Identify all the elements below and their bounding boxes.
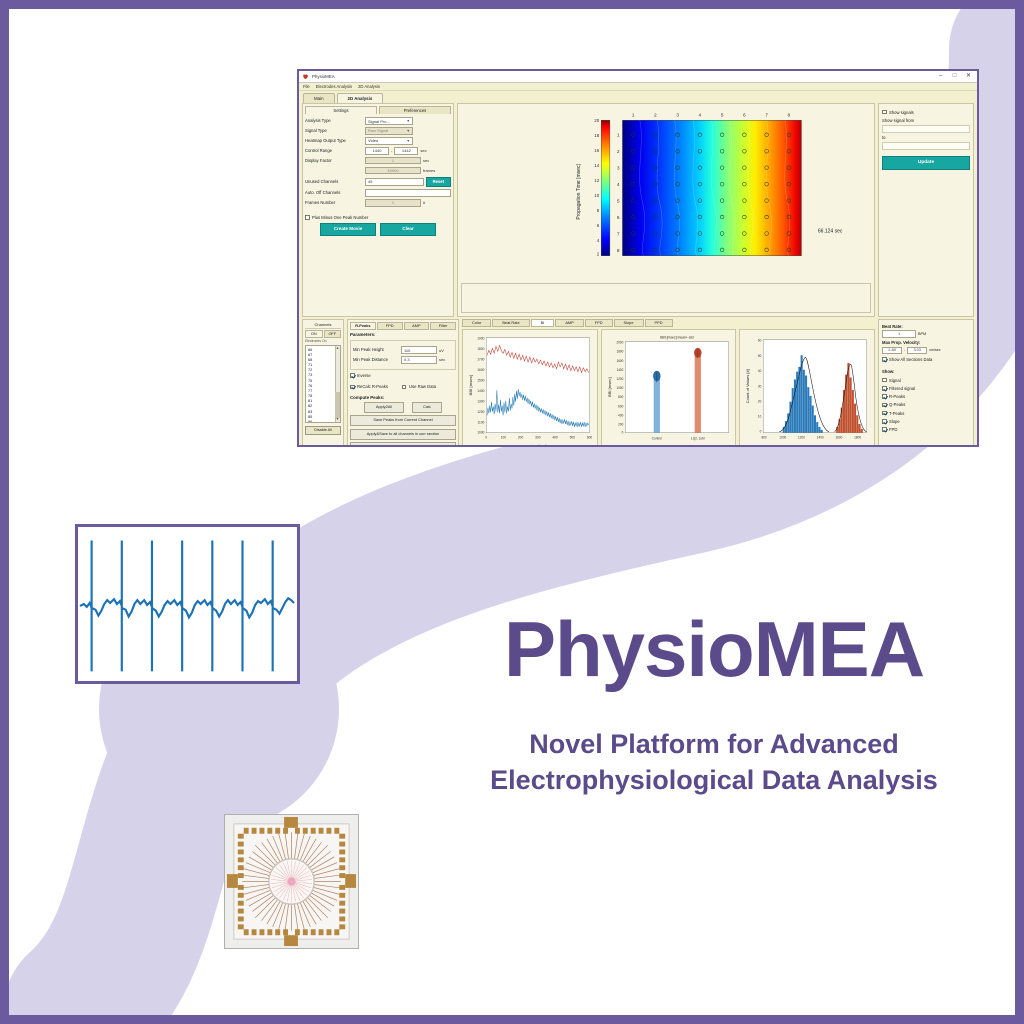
svg-text:60: 60: [758, 339, 762, 343]
disable-all-button[interactable]: Disable All: [305, 426, 341, 436]
label-min-peak-distance: Min Peak Distance: [353, 357, 399, 362]
label-auto-off-channels: Auto. Off Channels: [305, 190, 363, 195]
list-item[interactable]: 86: [308, 419, 338, 423]
label-display-factor: Display Factor: [305, 158, 363, 163]
channels-on-off-toggle: ON OFF: [305, 330, 341, 338]
field-display-frames: 10000 frames: [305, 167, 451, 175]
svg-text:7: 7: [617, 231, 620, 237]
unit-max-velocity: cm/sec: [929, 348, 940, 352]
svg-text:200: 200: [518, 436, 523, 440]
checkbox-inverse[interactable]: Inverse: [350, 373, 456, 378]
menu-item-2d-analysis[interactable]: 2D Analysis: [358, 84, 380, 89]
subtitle-line-2: Electrophysiological Data Analysis: [429, 763, 999, 799]
control-display-factor: 1 sec: [365, 157, 451, 165]
checkbox-label-show-signals: Show signals: [889, 110, 914, 115]
heatmap-column-ticks: 12 34 56 78: [632, 112, 791, 118]
settings-sub-tab-bar: Settings Preferences: [305, 106, 451, 115]
checkbox-box-q-peaks: [882, 403, 887, 408]
svg-text:1600: 1600: [616, 359, 623, 363]
svg-text:4: 4: [597, 238, 600, 243]
page-subtitle: Novel Platform for Advanced Electrophysi…: [429, 727, 999, 798]
input-signal-to[interactable]: [882, 142, 970, 150]
page-title: PhysioMEA: [429, 609, 999, 691]
svg-text:1800: 1800: [477, 347, 484, 351]
label-max-prop-velocity: Max Prop. Velocity:: [882, 340, 970, 345]
field-min-peak-distance: Min Peak Distance 0.3 sec: [353, 356, 453, 364]
input-display-factor[interactable]: 1: [365, 157, 421, 165]
control-frames-number: 1 #: [365, 199, 451, 207]
label-show-signal-from: Show signal from: [882, 118, 970, 123]
upper-workspace: Settings Preferences Analysis Type Signa…: [299, 103, 977, 317]
svg-text:500: 500: [570, 436, 575, 440]
compute-peaks-header: Compute Peaks:: [350, 395, 456, 401]
checkbox-label-signal: Signal: [889, 378, 901, 383]
control-analysis-type: Signal Pro... ▼: [365, 117, 451, 125]
svg-text:3: 3: [617, 165, 620, 171]
propagation-time-heatmap: Propagation Time [msec] 2018 1614 1210 8…: [458, 104, 874, 272]
peaks-tab-bar: R-Peaks FPD AMP Filter: [350, 322, 456, 331]
physiomea-application-window: PhysioMEA – □ ✕ File Electrodes Analysis…: [297, 69, 979, 447]
ecg-waveform-thumbnail: [75, 524, 300, 684]
tab-amp[interactable]: AMP: [404, 322, 430, 331]
checkbox-label-plus-minus: Plus Minus One Peak Number: [312, 215, 368, 220]
chevron-down-icon: ▼: [407, 139, 410, 143]
unit-beat-rate: BPM: [918, 332, 926, 337]
channels-off-button[interactable]: OFF: [324, 330, 342, 338]
svg-text:2: 2: [654, 112, 657, 118]
signals-panel: Show signals Show signal from to Update: [878, 103, 974, 317]
label-show-signal-to: to: [882, 135, 970, 140]
parameters-header: Parameters:: [350, 332, 456, 338]
heatmap-time-annotation: 66.124 sec: [818, 228, 843, 234]
bbi-mean-bar-chart: BBI [msec] mean+-std BBI [msec] 20001800…: [601, 329, 737, 447]
control-display-frames: 10000 frames: [365, 167, 451, 175]
close-button[interactable]: ✕: [963, 73, 974, 81]
svg-text:2000: 2000: [616, 341, 623, 345]
svg-text:1000: 1000: [780, 436, 787, 440]
input-frames-number[interactable]: 1: [365, 199, 421, 207]
heatmap-colorbar: [601, 120, 610, 255]
maximize-button[interactable]: □: [949, 73, 960, 81]
select-signal-type-value: Raw Signal: [368, 128, 388, 133]
svg-text:6: 6: [617, 214, 620, 220]
svg-text:1: 1: [632, 112, 635, 118]
svg-text:1800: 1800: [616, 350, 623, 354]
charts-panel: Color Beat Rate BI AMP FPD Slope PPD BBI: [462, 319, 875, 448]
control-auto-off-channels: [365, 189, 451, 197]
checkbox-box-r-peaks: [882, 394, 887, 399]
svg-text:600: 600: [587, 436, 592, 440]
channels-on-button[interactable]: ON: [305, 330, 323, 338]
unit-control-range: sec: [420, 148, 434, 153]
tab-bi[interactable]: BI: [531, 319, 555, 328]
svg-text:2: 2: [617, 149, 620, 155]
heatmap-panel: Propagation Time [msec] 2018 1614 1210 8…: [457, 103, 875, 317]
checkbox-label-use-raw: Use Raw Data: [409, 384, 436, 389]
window-menubar: File Electrodes Analysis 2D Analysis: [299, 83, 977, 91]
checkbox-use-raw-data[interactable]: Use Raw Data: [402, 384, 436, 389]
input-unused-channels[interactable]: 45: [365, 178, 424, 186]
max-velocity-separator: -: [904, 348, 905, 352]
checkbox-box-recalc: [350, 385, 355, 390]
field-unused-channels: Unused Channels 45 Reset: [305, 177, 451, 187]
chart-tab-bar: Color Beat Rate BI AMP FPD Slope PPD: [462, 319, 875, 328]
label-control-range: Control Range: [305, 148, 363, 153]
bbi-bar-ylabel: BBI [msec]: [607, 378, 612, 398]
tab-r-peaks[interactable]: R-Peaks: [350, 322, 376, 331]
peaks-checkbox-row: ReCalc R-Peaks Use Raw Data: [350, 381, 456, 392]
input-signal-from[interactable]: [882, 125, 970, 133]
svg-text:8: 8: [597, 208, 600, 213]
svg-text:4: 4: [617, 182, 620, 188]
poster-canvas: PhysioMEA – □ ✕ File Electrodes Analysis…: [0, 0, 1024, 1024]
metadata-panel: Beat Rate: 1 BPM Max Prop. Velocity: 2.8…: [878, 319, 974, 448]
settings-action-buttons: Create Movie Clear: [305, 223, 451, 236]
field-control-range: Control Range 1440 - 1442 sec: [305, 147, 451, 155]
svg-text:1000: 1000: [477, 431, 484, 435]
channels-panel: Channels ON OFF Electrodes On 66 67 68 7…: [302, 319, 344, 448]
input-display-frames[interactable]: 10000: [365, 167, 421, 175]
tab-fpd[interactable]: FPD: [585, 319, 613, 328]
svg-text:30: 30: [758, 385, 762, 389]
checkbox-label-fpd: FPD: [889, 427, 897, 432]
parameters-box: Min Peak Height 110 uV Min Peak Distance…: [350, 340, 456, 370]
svg-text:400: 400: [552, 436, 557, 440]
svg-text:1200: 1200: [798, 436, 805, 440]
bbi-series-xlabel: Time [sec]: [529, 444, 546, 447]
label-signal-type: Signal Type: [305, 128, 363, 133]
label-min-peak-height: Min Peak Height: [353, 347, 399, 352]
tab-filter[interactable]: Filter: [430, 322, 456, 331]
tab-beat-rate[interactable]: Beat Rate: [492, 319, 529, 328]
save-peaks-current-channel-button[interactable]: Save Peaks from Current Channel: [350, 415, 456, 426]
svg-text:400: 400: [618, 414, 623, 418]
svg-text:1700: 1700: [477, 358, 484, 362]
apply-save-current-section-button[interactable]: Apply&Save to all channels in curr secti…: [350, 429, 456, 440]
bar-treated: [694, 353, 700, 433]
unit-min-peak-height: uV: [439, 348, 453, 353]
tab-main[interactable]: Main: [303, 93, 335, 103]
channels-list[interactable]: 66 67 68 71 72 73 75 76 77 78 81 82 83 8…: [305, 345, 341, 423]
label-heatmap-output-type: Heatmap Output Type: [305, 138, 363, 143]
label-frames-number: Frames Number: [305, 200, 363, 205]
checkbox-show-fpd[interactable]: FPD: [882, 427, 970, 432]
svg-text:1500: 1500: [477, 379, 484, 383]
checkbox-label-t-peaks: T-Peaks: [889, 411, 904, 416]
svg-text:6: 6: [597, 223, 600, 228]
svg-text:6: 6: [743, 112, 746, 118]
checkbox-box-fpd: [882, 427, 887, 432]
colorbar-ticks: 2018 1614 1210 86 42: [594, 118, 599, 257]
input-control-range-to[interactable]: 1442: [394, 147, 418, 155]
field-display-factor: Display Factor 1 sec: [305, 157, 451, 165]
field-heatmap-output-type: Heatmap Output Type Video ▼: [305, 137, 451, 145]
chevron-down-icon: ▼: [407, 119, 410, 123]
svg-text:1400: 1400: [817, 436, 824, 440]
checkbox-show-slope[interactable]: Slope: [882, 419, 970, 424]
input-min-peak-height[interactable]: 110: [401, 346, 437, 354]
tab-ppd[interactable]: PPD: [645, 319, 673, 328]
menu-item-file[interactable]: File: [303, 84, 310, 89]
row-beat-rate: 1 BPM: [882, 330, 970, 338]
svg-text:600: 600: [618, 405, 623, 409]
unit-frames-number: #: [423, 200, 437, 205]
svg-text:8: 8: [617, 247, 620, 253]
window-title: PhysioMEA: [312, 74, 335, 80]
plots-row: BBI [msec] 19001800 17001600 15001400 13…: [462, 329, 875, 447]
svg-text:1800: 1800: [855, 436, 862, 440]
control-range-separator: -: [391, 148, 392, 153]
svg-text:200: 200: [618, 423, 623, 427]
electrode-array-center: [288, 878, 296, 886]
tab-slope[interactable]: Slope: [614, 319, 644, 328]
checkbox-box-inverse: [350, 373, 355, 378]
channels-sub-label: Electrodes On: [305, 339, 341, 343]
row-max-prop-velocity: 2.88 - 3.03 cm/sec: [882, 347, 970, 355]
checkbox-label-q-peaks: Q-Peaks: [889, 402, 905, 407]
input-auto-off-channels[interactable]: [365, 189, 451, 197]
field-min-peak-height: Min Peak Height 110 uV: [353, 346, 453, 354]
checkbox-label-inverse: Inverse: [357, 373, 371, 378]
bar-control: [653, 376, 659, 433]
heatmap-signal-strip: [461, 283, 871, 313]
checkbox-show-t-peaks[interactable]: T-Peaks: [882, 411, 970, 416]
svg-text:800: 800: [762, 436, 767, 440]
svg-text:1400: 1400: [477, 389, 484, 393]
checkbox-show-signals[interactable]: Show signals: [882, 110, 970, 115]
svg-text:0: 0: [485, 436, 487, 440]
field-auto-off-channels: Auto. Off Channels: [305, 189, 451, 197]
label-analysis-type: Analysis Type: [305, 118, 363, 123]
svg-text:Control: Control: [651, 437, 661, 441]
checkbox-box-plus-minus: [305, 215, 310, 220]
svg-text:7: 7: [765, 112, 768, 118]
svg-text:3: 3: [676, 112, 679, 118]
input-beat-rate[interactable]: 1: [882, 330, 916, 338]
svg-text:1100: 1100: [477, 421, 484, 425]
apply-save-all-sections-button[interactable]: Apply&Save to all channels in all sectio…: [350, 442, 456, 447]
bbi-time-series-chart: BBI [msec] 19001800 17001600 15001400 13…: [462, 329, 598, 447]
field-frames-number: Frames Number 1 #: [305, 199, 451, 207]
scroll-down-icon[interactable]: ▼: [335, 417, 340, 422]
checkbox-show-filtered-signal[interactable]: Filtered signal: [882, 386, 970, 391]
apply2all-button[interactable]: Apply2All: [364, 402, 404, 413]
input-max-velocity-min[interactable]: 2.88: [882, 347, 902, 355]
tab-2d-analysis[interactable]: 2D Analysis: [337, 93, 384, 103]
svg-text:4: 4: [699, 112, 702, 118]
update-button[interactable]: Update: [882, 156, 970, 170]
show-header: Show:: [882, 369, 970, 374]
control-control-range: 1440 - 1442 sec: [365, 147, 451, 155]
select-heatmap-output-type-value: Video: [368, 138, 378, 143]
svg-text:800: 800: [618, 395, 623, 399]
main-tab-bar: Main 2D Analysis: [299, 91, 977, 103]
checkbox-label-recalc: ReCalc R-Peaks: [357, 384, 388, 389]
checkbox-box-t-peaks: [882, 411, 887, 416]
checkbox-plus-minus-one-peak[interactable]: Plus Minus One Peak Number: [305, 215, 451, 220]
field-analysis-type: Analysis Type Signal Pro... ▼: [305, 117, 451, 125]
svg-text:1600: 1600: [477, 368, 484, 372]
svg-text:20: 20: [594, 118, 599, 123]
checkbox-recalc-r-peaks[interactable]: ReCalc R-Peaks: [350, 384, 388, 389]
bbi-series-ylabel: BBI [msec]: [468, 375, 473, 396]
svg-text:14: 14: [594, 163, 599, 168]
input-control-range-from[interactable]: 1440: [365, 147, 389, 155]
control-heatmap-output-type: Video ▼: [365, 137, 451, 145]
heatmap-ylabel: Propagation Time [msec]: [576, 163, 582, 219]
subtab-preferences[interactable]: Preferences: [379, 106, 451, 115]
checkbox-label-slope: Slope: [889, 419, 900, 424]
svg-text:5: 5: [617, 198, 620, 204]
checkbox-box-show-all-sections: [882, 357, 887, 362]
svg-text:8: 8: [788, 112, 791, 118]
control-min-peak-height: 110 uV: [401, 346, 453, 354]
svg-text:16: 16: [594, 148, 599, 153]
bbi-bar-title: BBI [msec] mean+-std: [660, 336, 693, 340]
svg-text:1900: 1900: [477, 337, 484, 341]
field-signal-type: Signal Type Raw Signal ▼: [305, 127, 451, 135]
checkbox-show-signal[interactable]: Signal: [882, 378, 970, 383]
svg-text:1200: 1200: [616, 377, 623, 381]
select-analysis-type[interactable]: Signal Pro... ▼: [365, 117, 413, 125]
channels-header: Channels: [305, 322, 341, 329]
peaks-panel: R-Peaks FPD AMP Filter Parameters: Min P…: [347, 319, 459, 448]
subtitle-line-1: Novel Platform for Advanced: [429, 727, 999, 763]
menu-item-electrodes-analysis[interactable]: Electrodes Analysis: [316, 84, 352, 89]
checkbox-show-q-peaks[interactable]: Q-Peaks: [882, 402, 970, 407]
label-unused-channels: Unused Channels: [305, 179, 363, 184]
heatmap-row-ticks: 12 34 56 78: [617, 132, 620, 253]
checkbox-show-all-sections[interactable]: Show All Sections Data: [882, 357, 970, 362]
svg-text:LQ2, 1uM: LQ2, 1uM: [691, 437, 705, 441]
svg-text:300: 300: [535, 436, 540, 440]
checkbox-label-r-peaks: R-Peaks: [889, 394, 905, 399]
create-movie-button[interactable]: Create Movie: [320, 223, 376, 236]
select-signal-type[interactable]: Raw Signal ▼: [365, 127, 413, 135]
svg-text:1: 1: [617, 132, 620, 138]
svg-text:1600: 1600: [836, 436, 843, 440]
svg-text:12: 12: [594, 178, 599, 183]
svg-text:50: 50: [758, 354, 762, 358]
svg-text:0: 0: [621, 431, 623, 435]
select-analysis-type-value: Signal Pro...: [368, 119, 390, 124]
histogram-xlabel: Duration [msec]: [803, 445, 828, 447]
compute-buttons-row: Apply2All Calc: [350, 402, 456, 413]
svg-text:1400: 1400: [616, 368, 623, 372]
mea-chip-thumbnail: [224, 814, 359, 949]
svg-text:0: 0: [760, 430, 762, 434]
scroll-up-icon[interactable]: ▲: [335, 346, 340, 351]
svg-text:20: 20: [758, 400, 762, 404]
svg-text:5: 5: [721, 112, 724, 118]
duration-histogram-chart: Count of Values [#] 6050 4030 2010 0: [739, 329, 875, 447]
svg-text:10: 10: [758, 415, 762, 419]
input-min-peak-distance[interactable]: 0.3: [401, 356, 437, 364]
checkbox-label-show-all-sections: Show All Sections Data: [889, 357, 932, 362]
control-unused-channels: 45 Reset: [365, 177, 451, 187]
lower-workspace: Channels ON OFF Electrodes On 66 67 68 7…: [299, 317, 977, 448]
branding-block: PhysioMEA Novel Platform for Advanced El…: [429, 609, 999, 798]
histogram-ylabel: Count of Values [#]: [745, 369, 750, 403]
clear-button[interactable]: Clear: [380, 223, 436, 236]
subtab-settings[interactable]: Settings: [305, 106, 377, 115]
unit-min-peak-distance: sec: [439, 357, 453, 362]
scrollbar-thumb[interactable]: [335, 392, 340, 418]
svg-text:40: 40: [758, 369, 762, 373]
calc-button[interactable]: Calc: [412, 402, 442, 413]
svg-text:1200: 1200: [477, 410, 484, 414]
heart-icon: [302, 73, 309, 80]
channels-scrollbar[interactable]: ▲ ▼: [335, 346, 340, 422]
checkbox-box-signal: [882, 378, 887, 383]
checkbox-box-use-raw: [402, 385, 407, 390]
svg-text:10: 10: [594, 193, 599, 198]
select-heatmap-output-type[interactable]: Video ▼: [365, 137, 413, 145]
checkbox-box-show-signals: [882, 110, 887, 115]
svg-text:2: 2: [597, 251, 600, 256]
checkbox-box-filtered-signal: [882, 386, 887, 391]
unit-display-frames: frames: [423, 168, 437, 173]
heatmap-plate: [622, 120, 801, 255]
svg-text:1300: 1300: [477, 400, 484, 404]
checkbox-box-slope: [882, 419, 887, 424]
minimize-button[interactable]: –: [935, 73, 946, 81]
control-signal-type: Raw Signal ▼: [365, 127, 451, 135]
svg-text:100: 100: [501, 436, 506, 440]
window-titlebar: PhysioMEA – □ ✕: [299, 71, 977, 83]
chevron-down-icon: ▼: [407, 129, 410, 133]
svg-text:1000: 1000: [616, 386, 623, 390]
svg-text:18: 18: [594, 133, 599, 138]
reset-button[interactable]: Reset: [426, 177, 451, 187]
unit-display-factor: sec: [423, 158, 437, 163]
input-max-velocity-max[interactable]: 3.03: [907, 347, 927, 355]
tab-amp[interactable]: AMP: [555, 319, 583, 328]
label-beat-rate: Beat Rate:: [882, 324, 970, 329]
tab-color[interactable]: Color: [462, 319, 491, 328]
settings-panel: Settings Preferences Analysis Type Signa…: [302, 103, 454, 317]
control-min-peak-distance: 0.3 sec: [401, 356, 453, 364]
checkbox-show-r-peaks[interactable]: R-Peaks: [882, 394, 970, 399]
checkbox-label-filtered-signal: Filtered signal: [889, 386, 915, 391]
tab-fpd[interactable]: FPD: [377, 322, 403, 331]
